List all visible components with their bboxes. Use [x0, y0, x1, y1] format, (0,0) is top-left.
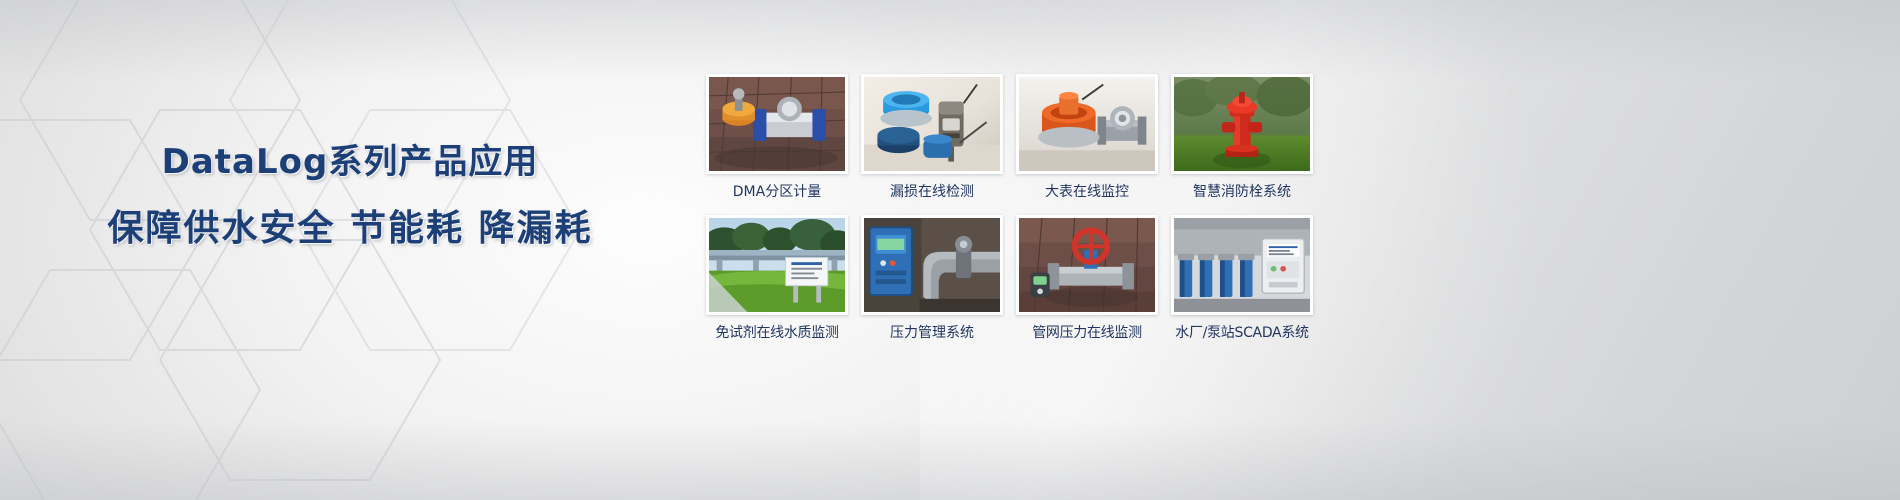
product-grid: DMA分区计量 [706, 74, 1846, 342]
headline-line-1: DataLog系列产品应用 [0, 140, 700, 184]
pressure-management-cabinet-photo[interactable] [861, 215, 1003, 315]
dma-flow-meter-photo[interactable] [706, 74, 848, 174]
pressure-management-cabinet-art [864, 218, 1000, 312]
leak-detection-logger-photo[interactable] [861, 74, 1003, 174]
headline-block: DataLog系列产品应用 保障供水安全 节能耗 降漏耗 [0, 140, 700, 252]
smart-fire-hydrant-photo[interactable] [1171, 74, 1313, 174]
product-caption: 水厂/泵站SCADA系统 [1171, 324, 1313, 342]
pipeline-pressure-valve-photo[interactable] [1016, 215, 1158, 315]
product-caption: 压力管理系统 [861, 324, 1003, 342]
pipeline-pressure-valve-art [1019, 218, 1155, 312]
product-row-2: 免试剂在线水质监测 [706, 215, 1846, 342]
large-meter-monitor-photo[interactable] [1016, 74, 1158, 174]
product-row-1: DMA分区计量 [706, 74, 1846, 201]
water-quality-station-photo[interactable] [706, 215, 848, 315]
product-card-water-quality[interactable]: 免试剂在线水质监测 [706, 215, 848, 342]
product-card-large-meter[interactable]: 大表在线监控 [1016, 74, 1158, 201]
dma-flow-meter-art [709, 77, 845, 171]
scada-pump-station-photo[interactable] [1171, 215, 1313, 315]
product-caption: 智慧消防栓系统 [1171, 183, 1313, 201]
product-card-pipeline-pressure[interactable]: 管网压力在线监测 [1016, 215, 1158, 342]
product-card-scada[interactable]: 水厂/泵站SCADA系统 [1171, 215, 1313, 342]
leak-detection-logger-art [864, 77, 1000, 171]
product-caption: DMA分区计量 [706, 183, 848, 201]
scada-pump-station-art [1174, 218, 1310, 312]
product-card-leak-detection[interactable]: 漏损在线检测 [861, 74, 1003, 201]
product-card-fire-hydrant[interactable]: 智慧消防栓系统 [1171, 74, 1313, 201]
product-caption: 免试剂在线水质监测 [706, 324, 848, 342]
headline-line-2: 保障供水安全 节能耗 降漏耗 [0, 206, 700, 252]
product-card-dma[interactable]: DMA分区计量 [706, 74, 848, 201]
smart-fire-hydrant-art [1174, 77, 1310, 171]
product-caption: 漏损在线检测 [861, 183, 1003, 201]
product-caption: 管网压力在线监测 [1016, 324, 1158, 342]
promotional-banner: DataLog系列产品应用 保障供水安全 节能耗 降漏耗 [0, 0, 1900, 500]
product-card-pressure-management[interactable]: 压力管理系统 [861, 215, 1003, 342]
large-meter-monitor-art [1019, 77, 1155, 171]
product-caption: 大表在线监控 [1016, 183, 1158, 201]
water-quality-station-art [709, 218, 845, 312]
